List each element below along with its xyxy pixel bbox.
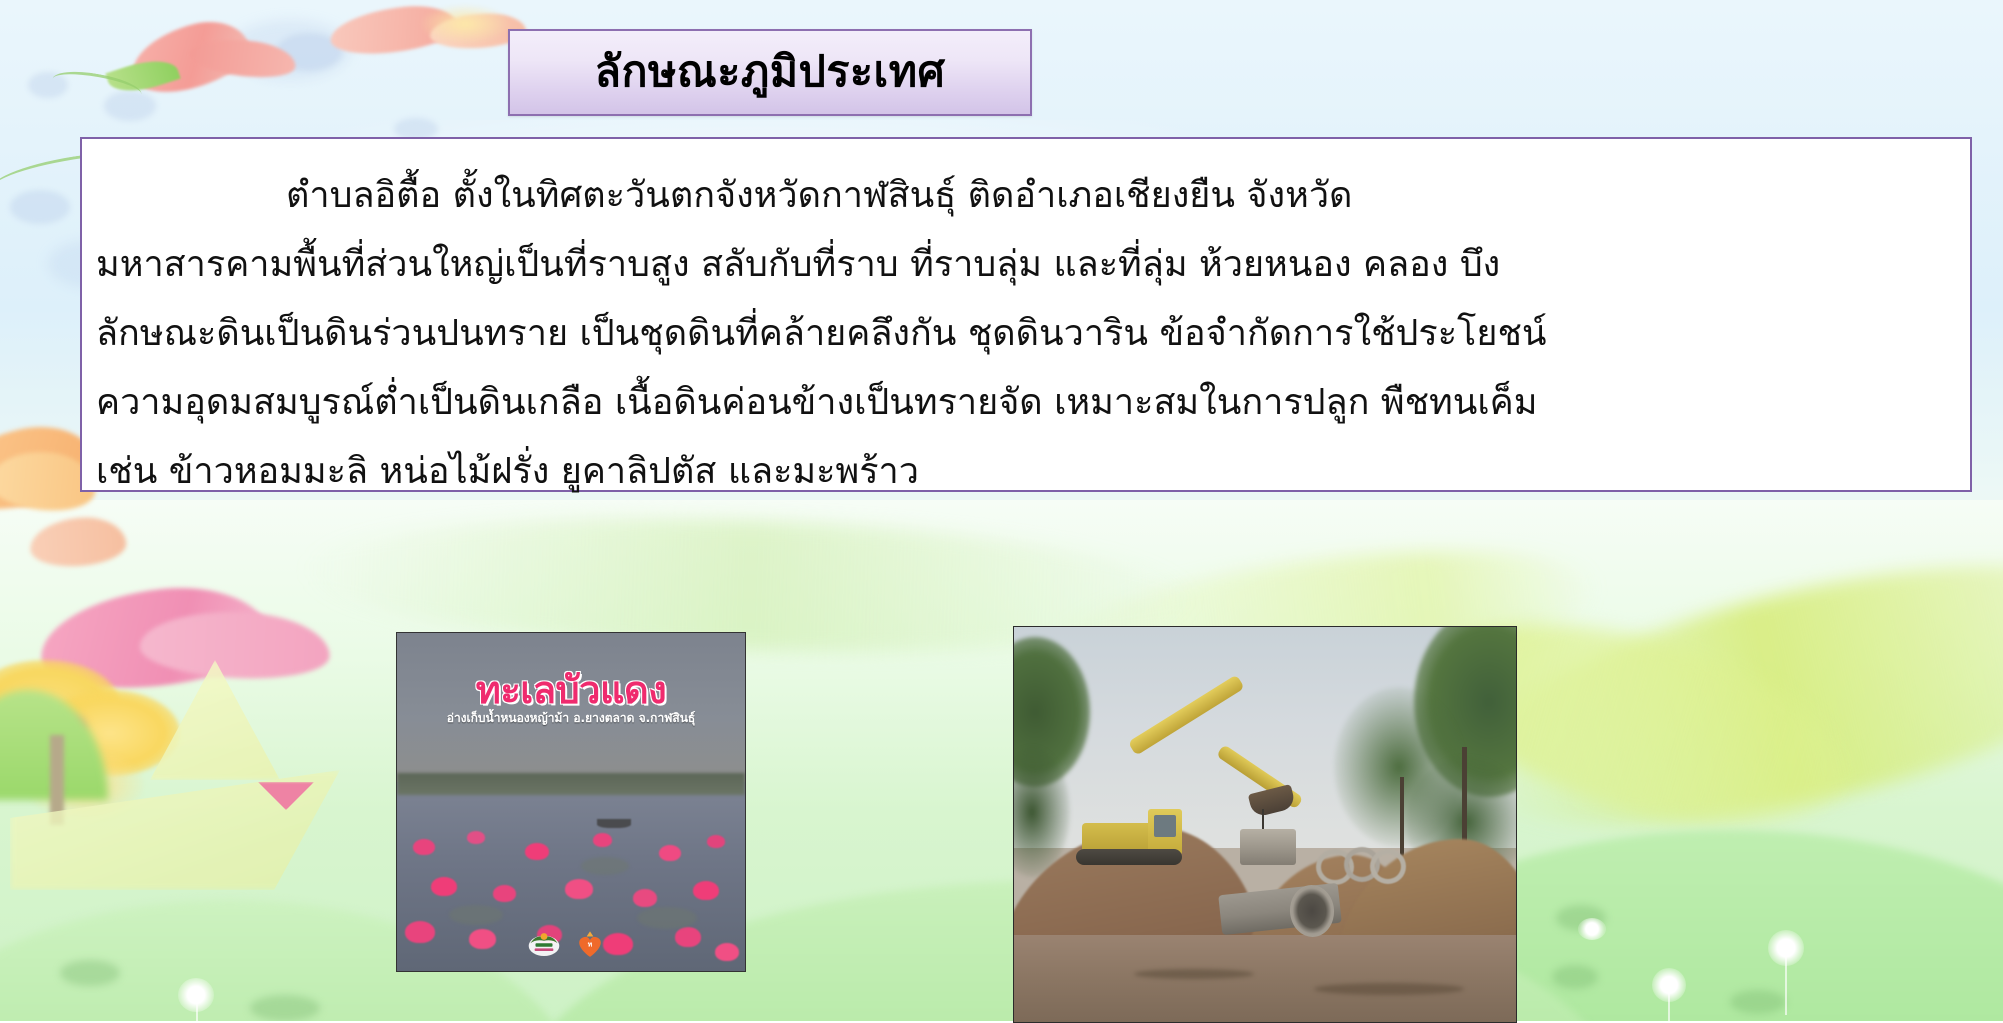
poster-subtitle: อ่างเก็บน้ำหนองหญ้าม้า อ.ยางตลาด จ.กาฬสิ…: [397, 709, 745, 728]
poster-lily-pad: [581, 857, 629, 875]
poster-lotus: [693, 881, 719, 900]
poster-lotus: [467, 831, 485, 844]
poster-boat: [597, 819, 631, 828]
photo-lifting-cable: [1262, 809, 1264, 831]
poster-lotus: [469, 929, 496, 949]
page-title: ลักษณะภูมิประเทศ: [595, 51, 946, 94]
slide-body-box: ตำบลอิตื้อ ตั้งในทิศตะวันตกจังหวัดกาฬสิน…: [80, 137, 1972, 492]
poster-lotus: [431, 877, 457, 896]
poster-lotus: [413, 839, 435, 855]
photo-pipe-ring: [1370, 849, 1406, 884]
photo-excavator-tracks: [1076, 849, 1182, 865]
body-line: ลักษณะดินเป็นดินร่วนปนทราย เป็นชุดดินที่…: [96, 299, 1954, 368]
decor-dandelion-puff: [1578, 918, 1606, 940]
photo-ground: [1014, 935, 1516, 1022]
poster-lotus: [603, 933, 633, 955]
svg-text:ท: ท: [588, 942, 593, 949]
poster-lotus: [707, 835, 725, 848]
poster-lotus: [493, 885, 516, 902]
body-line: ความอุดมสมบูรณ์ต่ำเป็นดินเกลือ เนื้อดินค…: [96, 368, 1954, 437]
poster-lotus: [593, 833, 612, 847]
photo-ground-debris: [1314, 983, 1464, 995]
poster-lotus: [659, 845, 681, 861]
decor-green-dot: [1552, 965, 1598, 989]
poster-logo-right: ท: [573, 931, 607, 959]
poster-logo-left: [527, 931, 561, 959]
body-line: มหาสารคามพื้นที่ส่วนใหญ่เป็นที่ราบสูง สล…: [96, 230, 1954, 299]
photo-suspended-pipe: [1240, 829, 1296, 865]
slide-title-box: ลักษณะภูมิประเทศ: [508, 29, 1032, 116]
decor-dandelion-puff: [1652, 968, 1686, 1002]
photo-ground-debris: [1134, 969, 1254, 979]
decor-petal: [420, 4, 510, 44]
poster-lily-pad: [637, 907, 697, 929]
body-line: ตำบลอิตื้อ ตั้งในทิศตะวันตกจังหวัดกาฬสิน…: [96, 161, 1954, 230]
poster-lotus: [405, 921, 435, 943]
decor-green-dot: [250, 995, 320, 1021]
poster-lotus: [715, 943, 739, 961]
decor-dandelion-puff: [178, 978, 214, 1012]
poster-lily-pad: [449, 905, 503, 925]
poster-lotus: [633, 889, 657, 907]
poster-lotus: [525, 843, 549, 860]
decor-green-dot: [60, 960, 120, 986]
poster-lotus: [565, 879, 593, 899]
decor-dandelion-puff: [1768, 930, 1804, 966]
photo-excavator-cab-window: [1154, 815, 1176, 837]
poster-treeline: [397, 773, 745, 795]
poster-lotus: [675, 927, 701, 947]
image-excavator-drainage-pipes: [1013, 626, 1517, 1023]
decor-green-dot: [1730, 990, 1786, 1014]
body-line: เช่น ข้าวหอมมะลิ หน่อไม้ฝรั่ง ยูคาลิปตัส…: [96, 437, 1954, 506]
image-red-lotus-sea-poster: ทะเลบัวแดง อ่างเก็บน้ำหนองหญ้าม้า อ.ยางต…: [396, 632, 746, 972]
